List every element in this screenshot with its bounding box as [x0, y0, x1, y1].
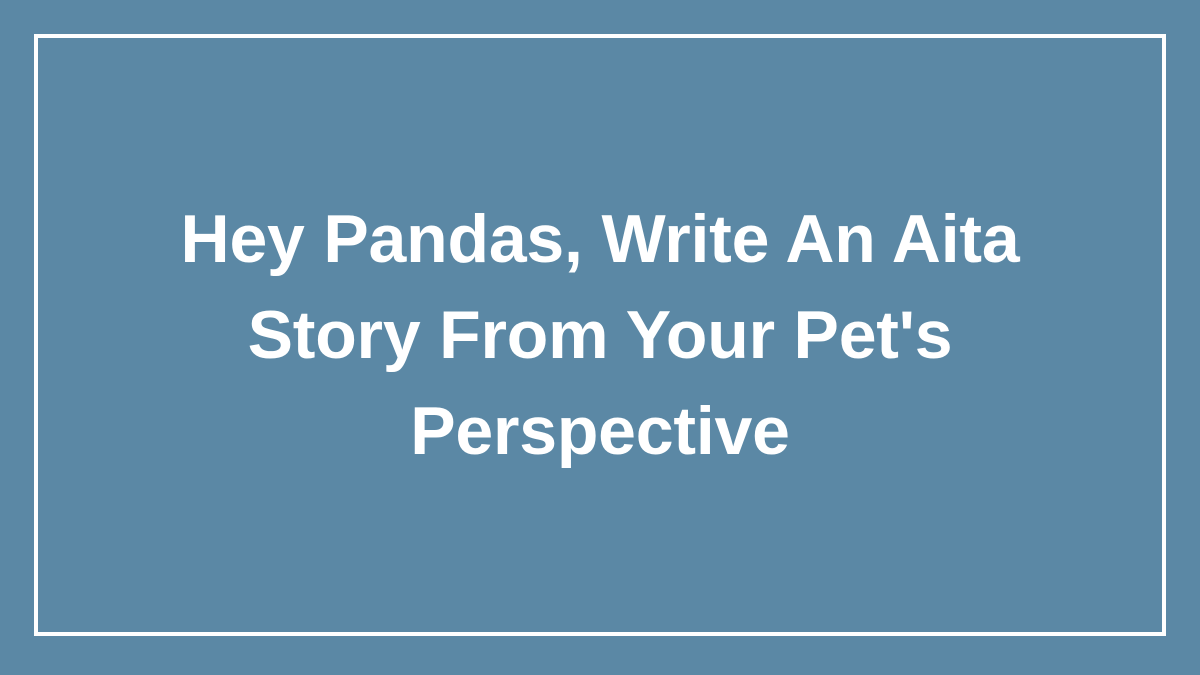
page-title-line-3: Perspective — [181, 383, 1020, 479]
page-title: Hey Pandas, Write An Aita Story From You… — [181, 191, 1020, 479]
page-title-line-1: Hey Pandas, Write An Aita — [181, 191, 1020, 287]
title-card-banner: Hey Pandas, Write An Aita Story From You… — [0, 0, 1200, 675]
page-title-line-2: Story From Your Pet's — [181, 287, 1020, 383]
banner-content-area: Hey Pandas, Write An Aita Story From You… — [34, 34, 1166, 636]
